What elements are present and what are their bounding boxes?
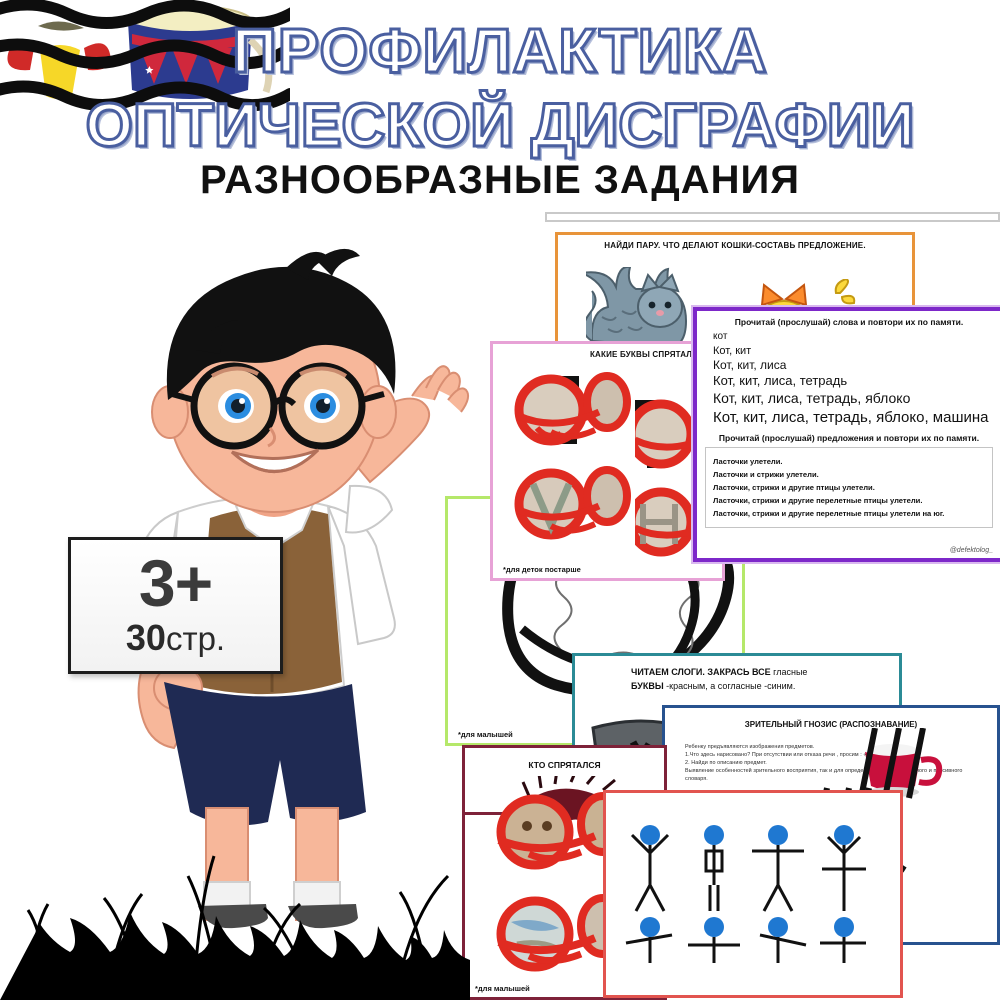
card-footnote: *для малышей bbox=[475, 984, 530, 993]
poster-canvas: ПРОФИЛАКТИКА ОПТИЧЕСКОЙ ДИСГРАФИИ РАЗНОО… bbox=[0, 0, 1000, 1000]
poster-title-block: ПРОФИЛАКТИКА ОПТИЧЕСКОЙ ДИСГРАФИИ РАЗНОО… bbox=[0, 22, 1000, 203]
word-row: Кот, кит, лиса, тетрадь, яблоко bbox=[713, 390, 993, 408]
card-heading bbox=[606, 793, 900, 801]
card-heading: Прочитай (прослушай) слова и повтори их … bbox=[705, 317, 993, 327]
watermark: @defektolog_ bbox=[950, 547, 993, 554]
red-glasses-with-hidden-letter bbox=[511, 372, 631, 450]
page-subtitle: РАЗНООБРАЗНЫЕ ЗАДАНИЯ bbox=[0, 158, 1000, 203]
grass-silhouette bbox=[0, 810, 470, 1000]
card-subheading: Прочитай (прослушай) предложения и повто… bbox=[705, 433, 993, 443]
worksheet-read-and-repeat[interactable]: Прочитай (прослушай) слова и повтори их … bbox=[693, 307, 1000, 562]
stick-figure-poses bbox=[622, 823, 884, 963]
page-title-line-1: ПРОФИЛАКТИКА bbox=[0, 22, 1000, 82]
card-heading: НАЙДИ ПАРУ. ЧТО ДЕЛАЮТ КОШКИ-СОСТАВЬ ПРЕ… bbox=[566, 241, 904, 252]
sentence-row: Ласточки и стрижи улетели. bbox=[713, 470, 985, 479]
memory-word-rows: кот Кот, кит Кот, кит, лиса Кот, кит, ли… bbox=[705, 331, 993, 427]
card-heading: КТО СПРЯТАЛСЯ bbox=[473, 754, 656, 770]
word-row: Кот, кит, лиса, тетрадь, яблоко, машина bbox=[713, 408, 993, 427]
page-count-label: 30стр. bbox=[126, 617, 225, 659]
age-label: 3+ bbox=[139, 552, 212, 615]
memory-sentence-rows: Ласточки улетели. Ласточки и стрижи улет… bbox=[705, 447, 993, 528]
word-row: кот bbox=[713, 331, 993, 344]
worksheet-which-letters-hid[interactable]: КАКИЕ БУКВЫ СПРЯТАЛИСЬ bbox=[490, 341, 725, 581]
red-glasses-with-hidden-letter bbox=[511, 466, 631, 544]
page-count-number: 30 bbox=[126, 617, 166, 658]
worksheet-top-band bbox=[545, 212, 1000, 222]
sentence-row: Ласточки улетели. bbox=[713, 457, 985, 466]
page-count-unit: стр. bbox=[166, 620, 225, 657]
heading-bold-2: БУКВЫ bbox=[631, 681, 664, 691]
heading-bold-1: ЧИТАЕМ СЛОГИ. ЗАКРАСЬ ВСЕ bbox=[631, 667, 771, 677]
card-heading: КАКИЕ БУКВЫ СПРЯТАЛИСЬ bbox=[501, 350, 714, 361]
worksheet-repeat-the-pose[interactable] bbox=[603, 790, 903, 998]
sentence-row: Ласточки, стрижи и другие перелетные пти… bbox=[713, 496, 985, 505]
card-footnote: *для деток постарше bbox=[503, 565, 581, 574]
word-row: Кот, кит bbox=[713, 344, 993, 358]
word-row: Кот, кит, лиса bbox=[713, 358, 993, 373]
word-row: Кот, кит, лиса, тетрадь bbox=[713, 373, 993, 390]
age-and-pages-sign: 3+ 30стр. bbox=[68, 537, 283, 674]
card-heading: ЧИТАЕМ СЛОГИ. ЗАКРАСЬ ВСЕ гласные БУКВЫ … bbox=[583, 666, 891, 693]
sentence-row: Ласточки, стрижи и другие птицы улетели. bbox=[713, 483, 985, 492]
heading-thin-1: гласные bbox=[771, 667, 808, 677]
sentence-row: Ласточки, стрижи и другие перелетные пти… bbox=[713, 509, 985, 518]
page-title-line-2: ОПТИЧЕСКОЙ ДИСГРАФИИ bbox=[0, 96, 1000, 155]
heading-thin-2: -красным, а согласные -синим. bbox=[664, 681, 796, 691]
